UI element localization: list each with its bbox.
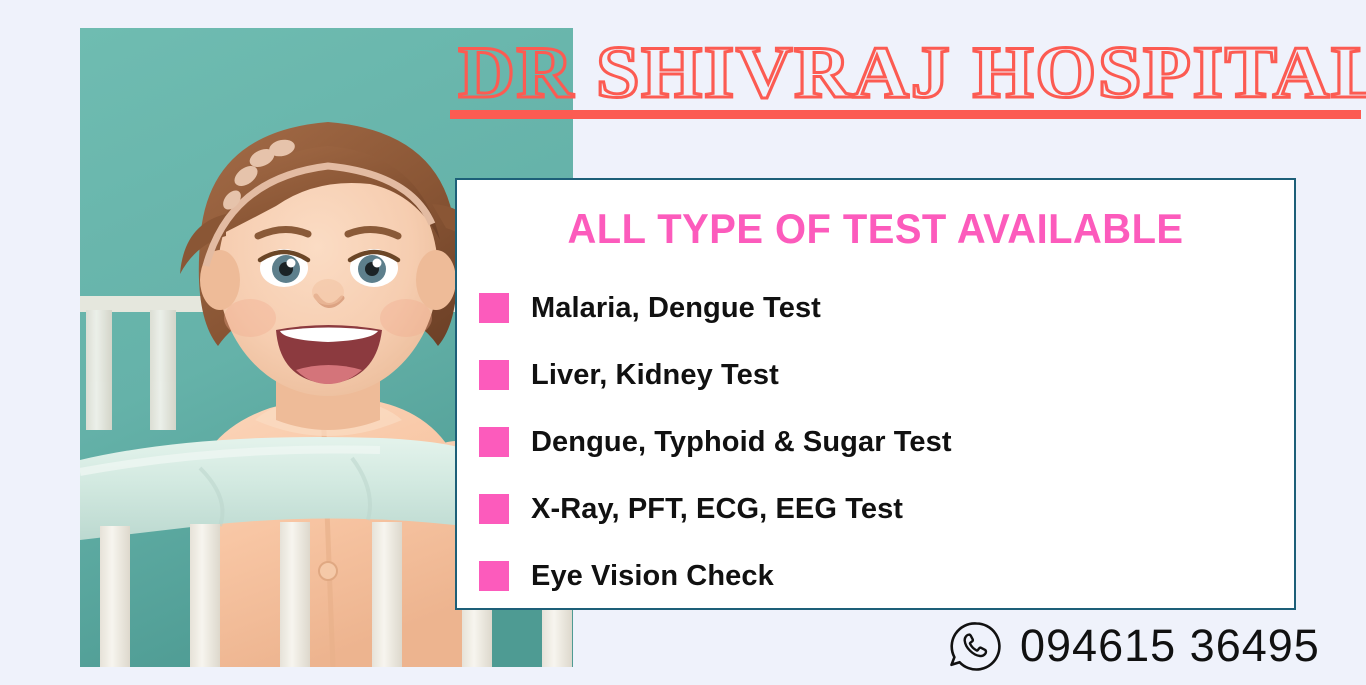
phone-number[interactable]: 094615 36495 [1020,621,1320,671]
services-card: ALL TYPE OF TEST AVAILABLE Malaria, Deng… [455,178,1296,610]
test-label: X-Ray, PFT, ECG, EEG Test [531,493,903,525]
test-label: Malaria, Dengue Test [531,292,821,324]
page-title: DR SHIVRAJ HOSPITAL [434,34,1366,112]
test-list: Malaria, Dengue Test Liver, Kidney Test … [457,252,1294,609]
bullet-square-icon [479,561,509,591]
whatsapp-icon[interactable] [946,618,1002,674]
whatsapp-glyph [946,618,1002,674]
list-item: Liver, Kidney Test [479,341,1294,408]
title-underline [450,110,1361,119]
list-item: Eye Vision Check [479,542,1294,609]
card-heading: ALL TYPE OF TEST AVAILABLE [478,180,1273,252]
list-item: Dengue, Typhoid & Sugar Test [479,408,1294,475]
list-item: X-Ray, PFT, ECG, EEG Test [479,475,1294,542]
test-label: Eye Vision Check [531,560,774,592]
bullet-square-icon [479,293,509,323]
contact-row: 094615 36495 [946,612,1320,680]
list-item: Malaria, Dengue Test [479,274,1294,341]
poster-root: DR SHIVRAJ HOSPITAL ALL TYPE OF TEST AVA… [0,0,1366,685]
bullet-square-icon [479,360,509,390]
hospital-title-block: DR SHIVRAJ HOSPITAL [434,34,1354,122]
test-label: Liver, Kidney Test [531,359,779,391]
bullet-square-icon [479,427,509,457]
bullet-square-icon [479,494,509,524]
test-label: Dengue, Typhoid & Sugar Test [531,426,952,458]
